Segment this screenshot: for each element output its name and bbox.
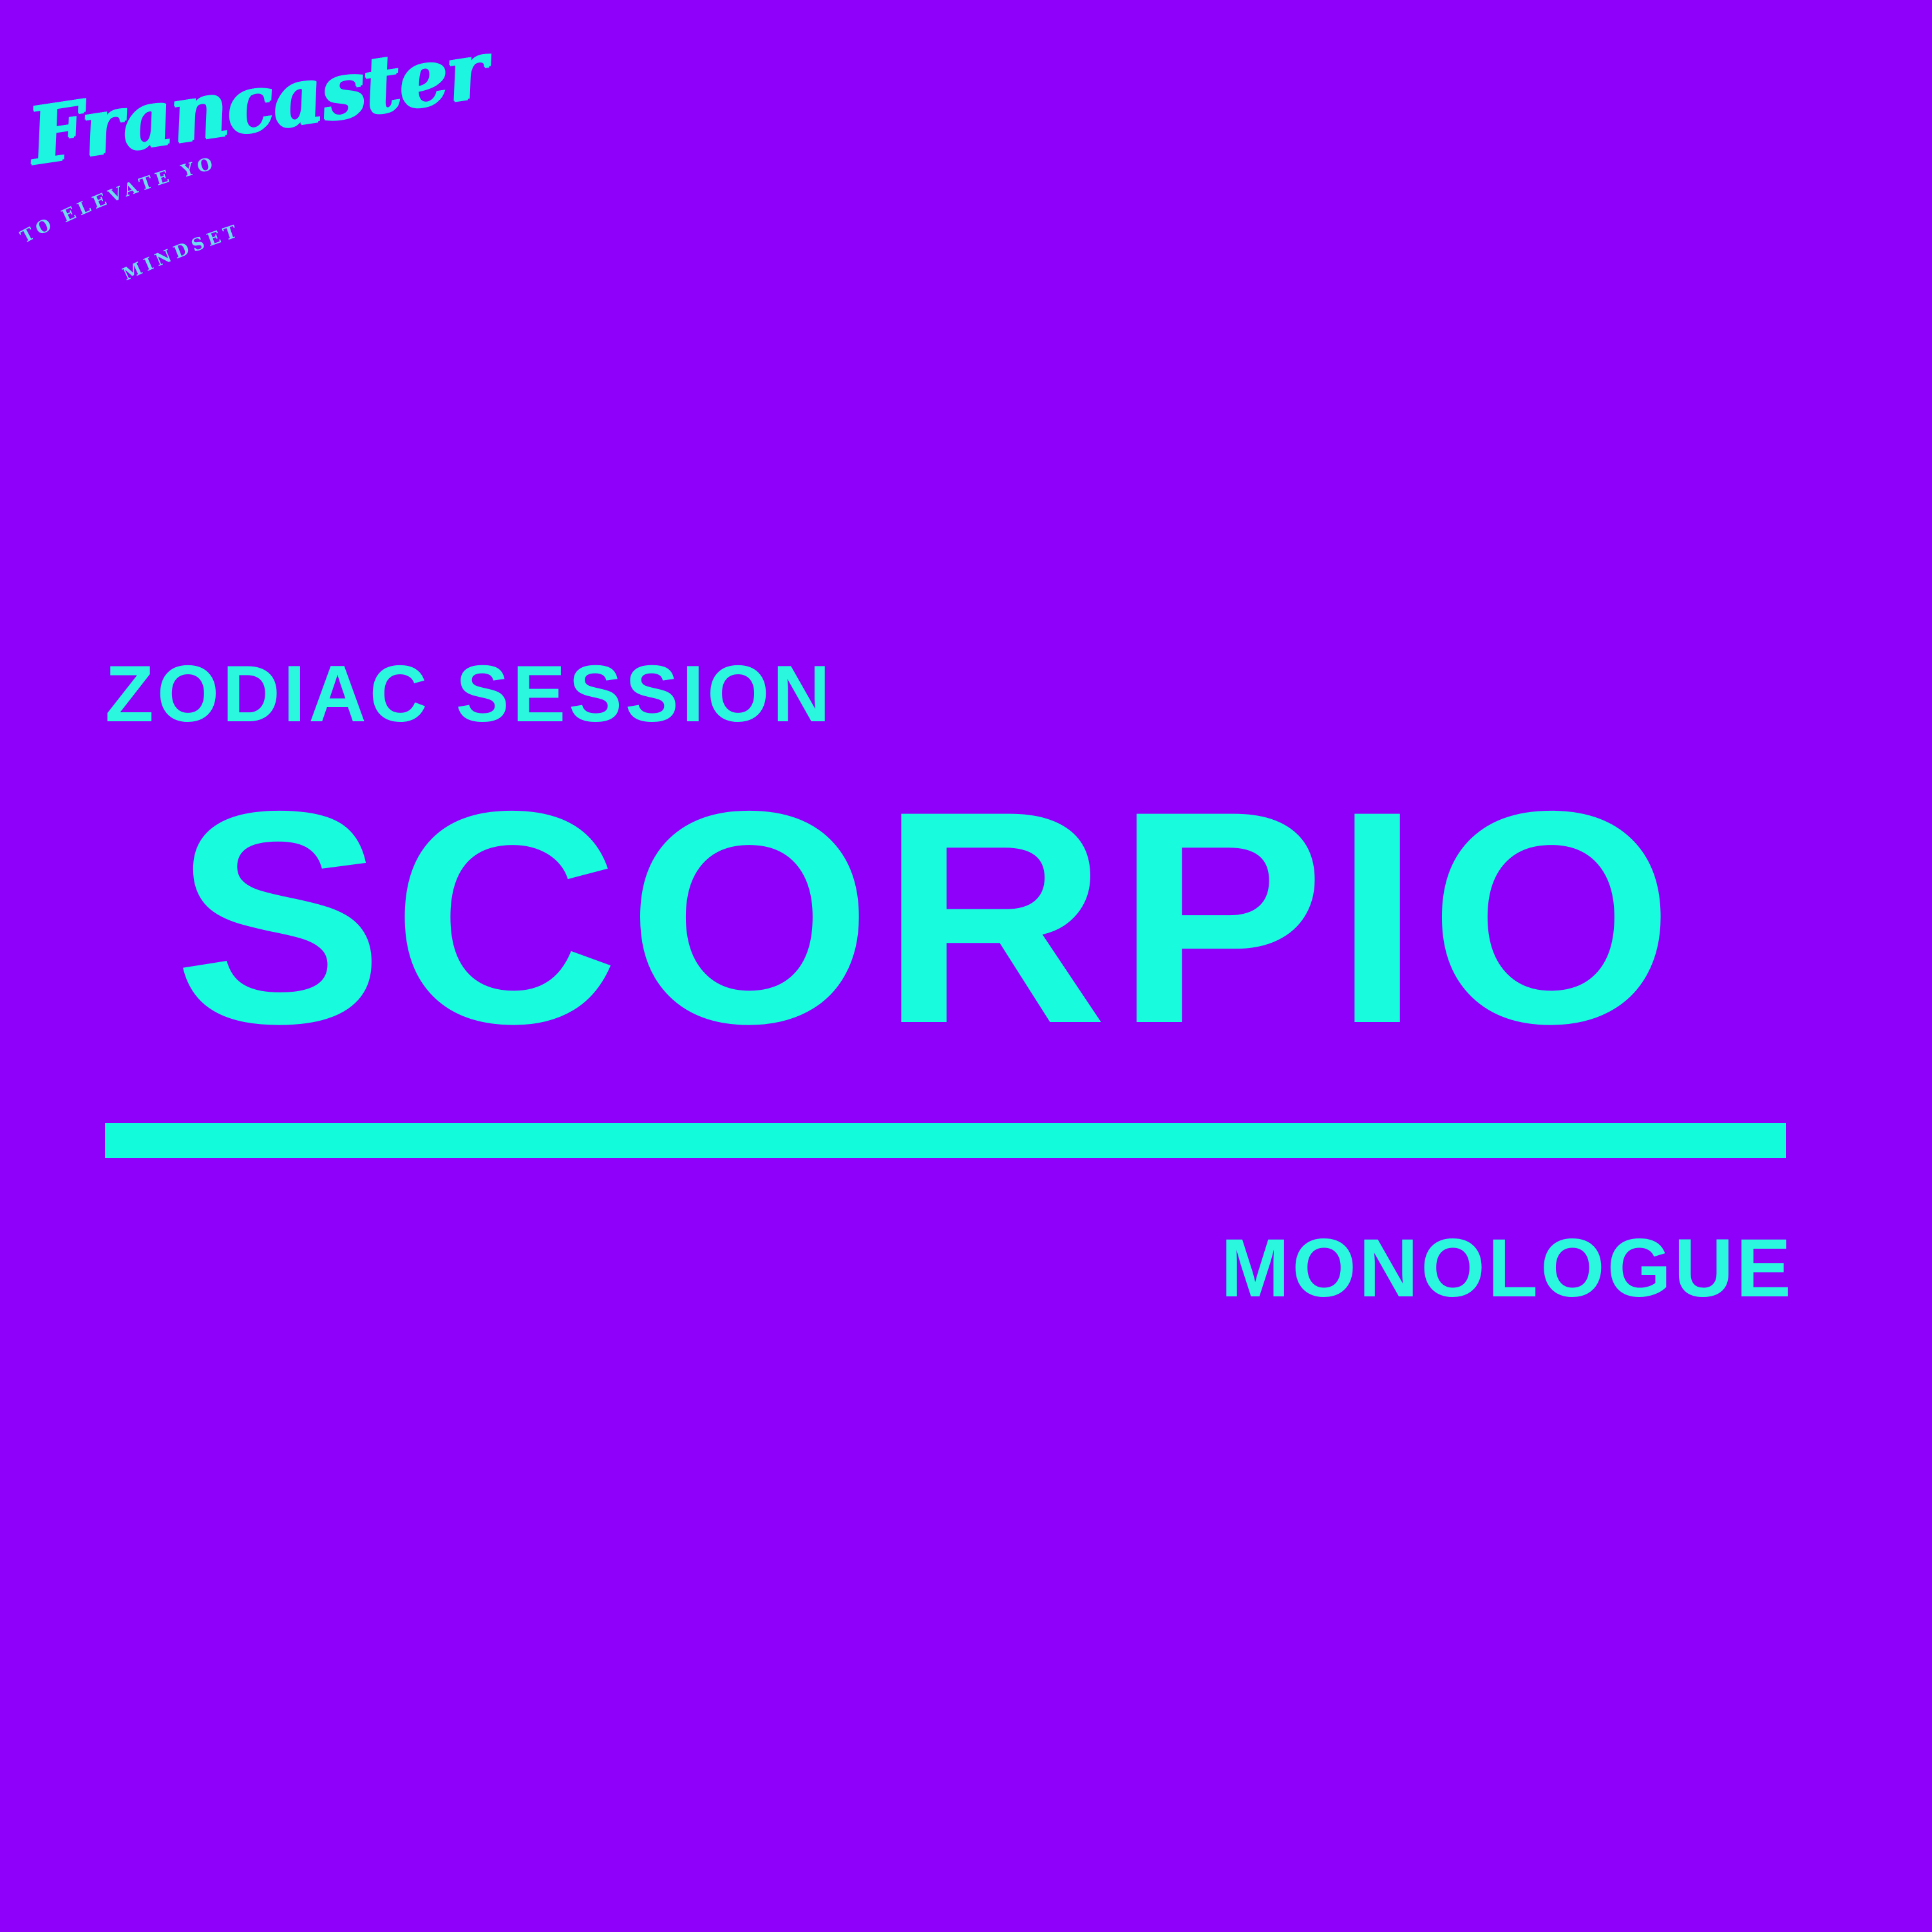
eyebrow-label: ZODIAC SESSION [105, 654, 833, 734]
poster-canvas: Francaster TO ELEVATE YOUNGSTER'S MINDSE… [0, 0, 1932, 1932]
page-title: SCORPIO [174, 766, 1682, 1069]
subtitle-label: MONOLOGUE [1221, 1227, 1794, 1310]
horizontal-rule [105, 1123, 1786, 1158]
main-content-block: ZODIAC SESSION SCORPIO MONOLOGUE [0, 0, 1932, 1932]
